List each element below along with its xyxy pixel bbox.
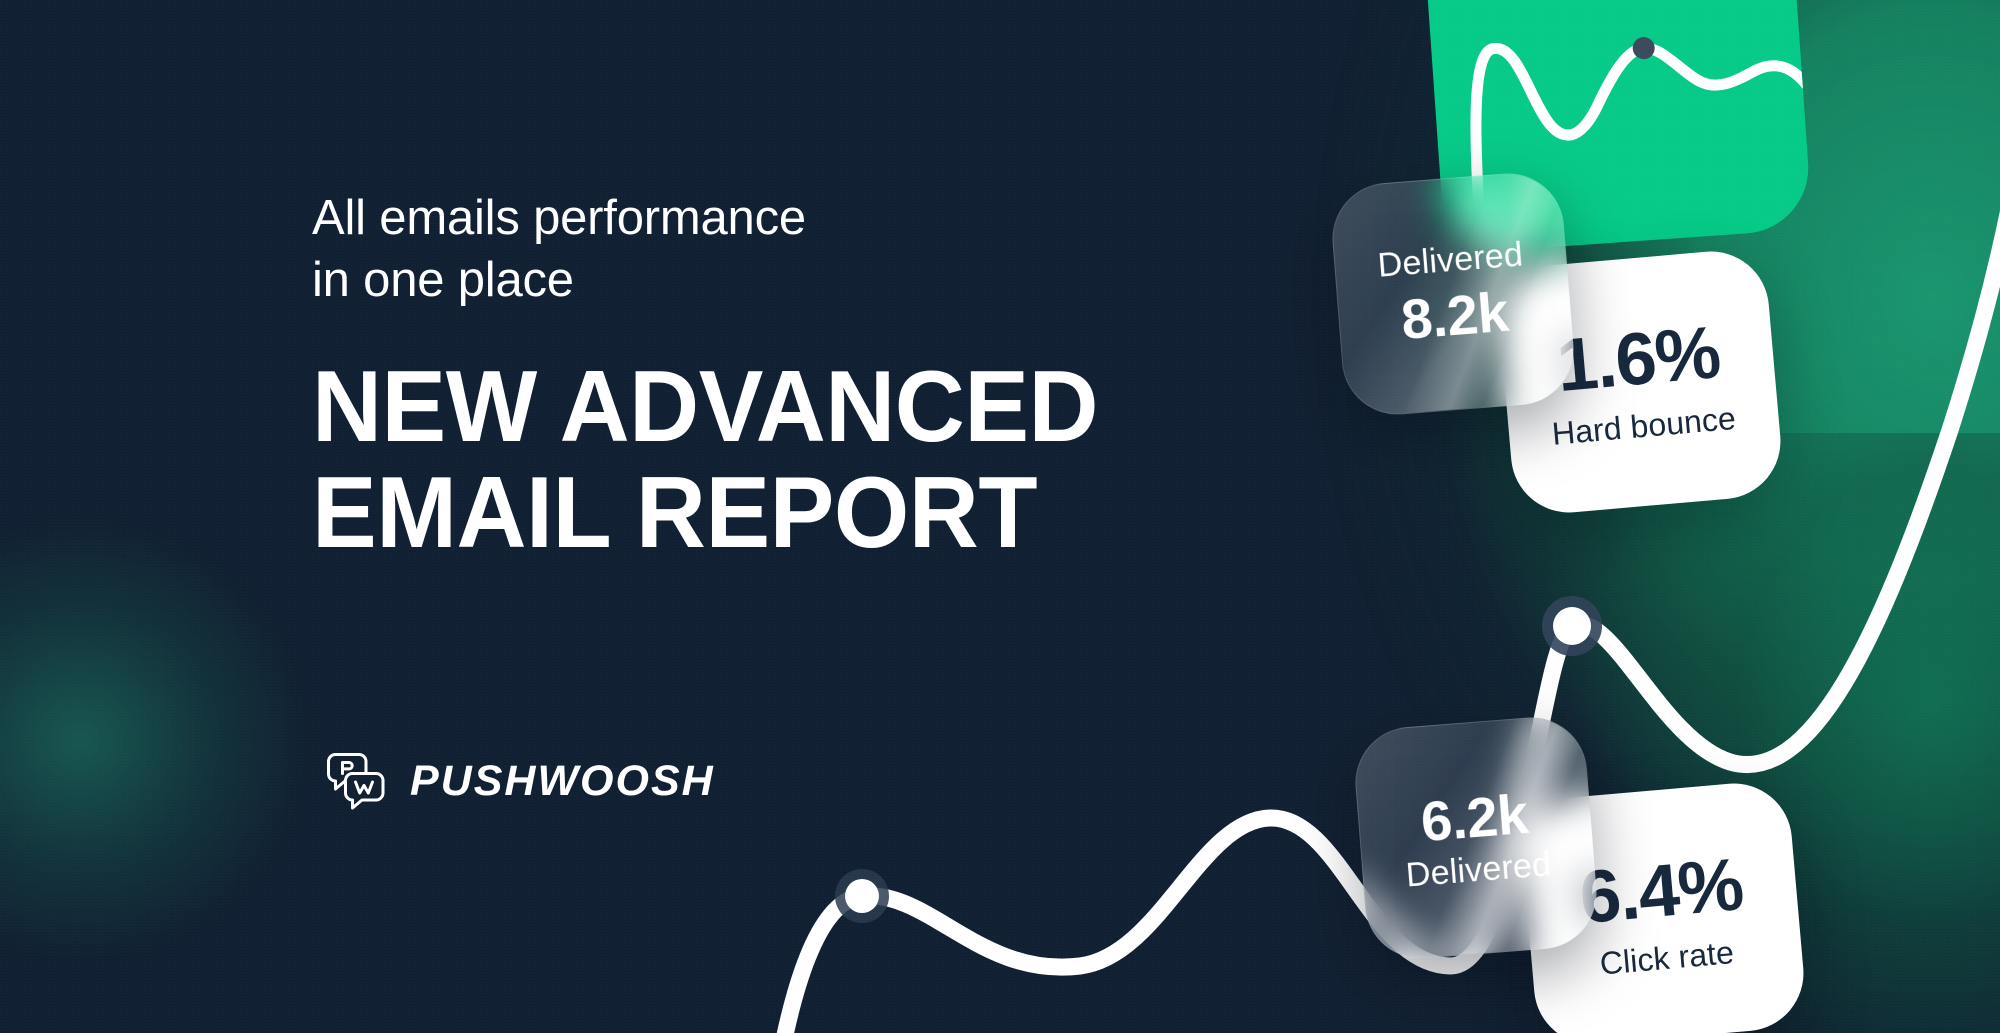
copy-block: All emails performance in one place NEW … [312, 188, 1212, 566]
stat-card-delivered-bottom: 6.2k Delivered [1351, 713, 1600, 962]
delivered-bottom-label: Delivered [1405, 846, 1553, 895]
delivered-top-value: 8.2k [1399, 281, 1511, 351]
delivered-top-label: Delivered [1376, 236, 1524, 285]
page-title: NEW ADVANCED EMAIL REPORT [312, 355, 1176, 565]
eyebrow-text: All emails performance in one place [312, 188, 1212, 311]
click-rate-label: Click rate [1599, 936, 1736, 980]
hard-bounce-label: Hard bounce [1551, 402, 1737, 450]
delivered-bottom-value: 6.2k [1419, 782, 1531, 852]
pushwoosh-bubble-icon [326, 752, 388, 810]
click-rate-value: 6.4% [1577, 847, 1746, 935]
brand-name: PUSHWOOSH [410, 760, 715, 803]
stat-card-delivered-top: Delivered 8.2k [1328, 169, 1577, 418]
hard-bounce-value: 1.6% [1554, 315, 1723, 403]
marketing-banner: 1.6% Hard bounce Delivered 8.2k 6.4% Cli… [0, 0, 2000, 1033]
pushwoosh-logo: PUSHWOOSH [326, 752, 715, 810]
